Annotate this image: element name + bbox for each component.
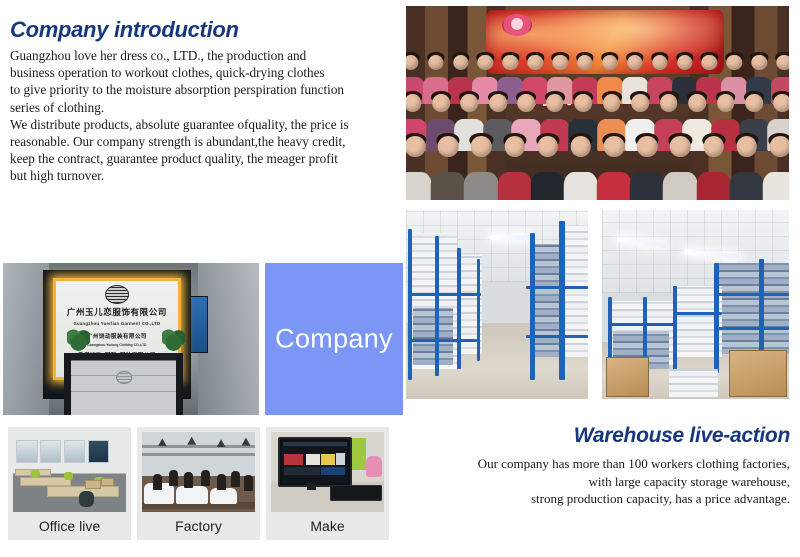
carton [101, 478, 114, 486]
person [763, 136, 789, 200]
rack-post [457, 248, 461, 369]
person [631, 136, 664, 200]
person [664, 136, 697, 200]
app-toolbar [283, 442, 346, 445]
ceiling-lamp [490, 235, 530, 240]
monitor-screen [282, 441, 348, 483]
chair [64, 472, 73, 480]
rack-post [759, 259, 764, 361]
cardboard-carton [729, 350, 787, 397]
rack-beam [526, 286, 588, 289]
keyboard [330, 485, 382, 501]
person [747, 55, 772, 94]
person [622, 55, 647, 94]
rack-beam [408, 293, 481, 296]
person [473, 55, 498, 94]
fabric-pile [210, 488, 237, 504]
company-panel-text: Company [265, 324, 403, 355]
thumbnail-card-office[interactable]: Office live [8, 427, 131, 540]
monitor [278, 437, 352, 487]
warehouse-photo-aisle [406, 210, 588, 399]
worker [231, 471, 240, 487]
warehouse-photo-shelves [602, 210, 789, 399]
warehouse-section-title: Warehouse live-action [574, 424, 790, 448]
desk-seam [71, 391, 176, 392]
rack-post [714, 263, 719, 373]
office-photo [13, 432, 126, 512]
person [697, 55, 722, 94]
chair [31, 470, 40, 478]
person [432, 136, 465, 200]
rack-post [673, 286, 677, 377]
sign-company-name-cn: 广州玉儿恋服饰有限公司 [53, 306, 181, 318]
rack-post [530, 233, 535, 380]
monitor-stand [307, 483, 316, 490]
person [406, 55, 423, 94]
person [573, 55, 598, 94]
person [523, 55, 548, 94]
rack-post [477, 259, 480, 361]
thumbnail-card-factory[interactable]: Factory [137, 427, 260, 540]
page-title: Company introduction [10, 17, 239, 43]
window [64, 440, 85, 463]
person [423, 55, 448, 94]
company-reception-photo: 广州玉儿恋服饰有限公司 Guangzhou Yuerlian Garment C… [3, 263, 259, 415]
person [406, 136, 432, 200]
crowd-row-middle [406, 94, 789, 139]
person [548, 55, 573, 94]
worker [153, 474, 162, 490]
design-panel [306, 454, 321, 465]
window [88, 440, 109, 463]
worker [244, 475, 253, 491]
window [16, 440, 37, 463]
person [465, 136, 498, 200]
thumbnail-card-make[interactable]: Make [266, 427, 389, 540]
overhead-pipe [142, 453, 255, 456]
banner-medallion-icon [502, 14, 532, 36]
rack-beam [714, 327, 789, 330]
person [672, 55, 697, 94]
pink-item [366, 456, 382, 477]
page-root: Company introduction Guangzhou love her … [0, 0, 800, 557]
warehouse-description-text: Our company has more than 100 workers cl… [410, 455, 790, 508]
rack-beam [714, 293, 789, 296]
potted-plant [162, 327, 185, 353]
wall-display-screen [188, 296, 208, 353]
thumbnail-caption-office: Office live [13, 512, 126, 540]
company-group-photo: 携手同心 共创未来 [406, 6, 789, 200]
person [498, 55, 523, 94]
window [40, 440, 61, 463]
office-chair [79, 491, 95, 507]
worker [169, 470, 178, 486]
design-panel [336, 453, 345, 466]
worker [217, 474, 226, 490]
packed-bundles [669, 369, 718, 397]
crowd-row-back [406, 55, 789, 94]
lobby-left-wall [3, 263, 49, 415]
timeline-panel [284, 467, 320, 475]
thumbnail-caption-factory: Factory [142, 512, 255, 540]
company-introduction-text: Guangzhou love her dress co., LTD., the … [10, 47, 395, 185]
rack-post [408, 229, 412, 380]
cardboard-carton [606, 357, 649, 397]
design-panel [321, 454, 334, 465]
stacked-goods [413, 308, 453, 365]
rack-post [435, 236, 439, 376]
reception-desk [64, 353, 183, 415]
person [597, 136, 630, 200]
person [697, 136, 730, 200]
person [730, 136, 763, 200]
crowd-row-front [406, 136, 789, 200]
carton [85, 480, 101, 489]
worker [201, 470, 210, 486]
company-logo-icon [105, 285, 129, 304]
person [531, 136, 564, 200]
person [597, 55, 622, 94]
rack-beam [608, 323, 675, 326]
person [564, 136, 597, 200]
person [647, 55, 672, 94]
rack-beam [408, 339, 477, 342]
potted-plant [67, 327, 90, 353]
person [722, 55, 747, 94]
stacked-goods [718, 263, 789, 354]
workstation-photo [271, 432, 384, 512]
person [448, 55, 473, 94]
rack-post [559, 221, 565, 380]
person [772, 55, 789, 94]
staff-crowd [406, 49, 789, 200]
thumbnail-caption-make: Make [271, 512, 384, 540]
sign-company-name-en: Guangzhou Yuerlian Garment CO.,LTD [53, 321, 181, 326]
rack-beam [526, 335, 588, 338]
design-panel [284, 454, 302, 465]
rack-beam [673, 312, 722, 315]
person [498, 136, 531, 200]
desk-logo-icon [116, 371, 132, 383]
worker [184, 472, 193, 488]
fabric-pile [176, 486, 208, 504]
factory-photo [142, 432, 255, 512]
company-label-panel: Company [265, 263, 403, 415]
timeline-panel [321, 467, 345, 475]
